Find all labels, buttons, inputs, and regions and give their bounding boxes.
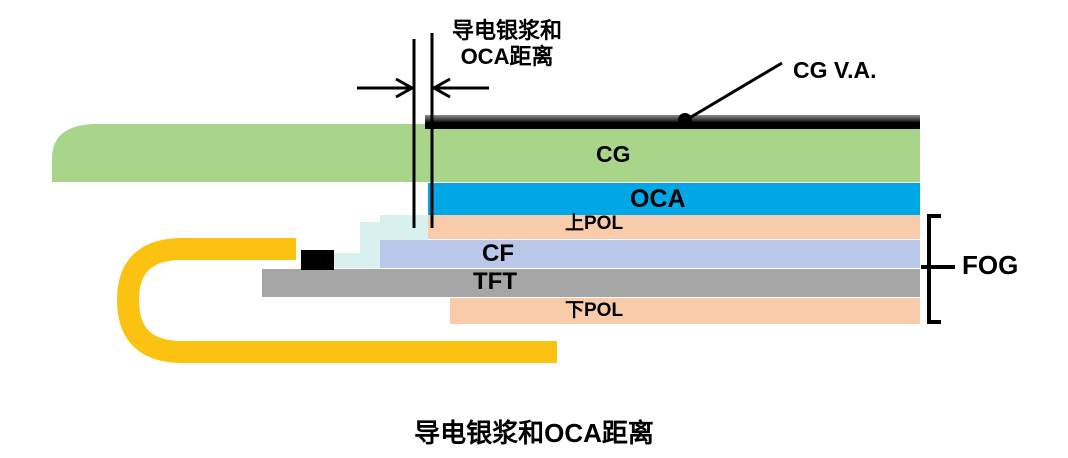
diagram-canvas: CG OCA 上POL CF TFT 下POL CG V.A. FOG 导电银浆… — [0, 0, 1068, 458]
upper-pol-shape — [428, 215, 920, 239]
cg-va-leader-line — [686, 63, 782, 120]
cg-va-bar-core — [425, 122, 920, 129]
conductive-silver-paste-bump-shape — [301, 250, 334, 270]
diagram-graphics — [0, 0, 1068, 458]
cg-layer-shape — [52, 124, 920, 182]
tft-layer-shape — [262, 269, 920, 297]
cf-layer-shape — [380, 240, 920, 268]
oca-layer-shape — [428, 183, 920, 215]
lower-pol-shape — [450, 298, 920, 324]
cg-va-leader-dot — [678, 113, 692, 127]
